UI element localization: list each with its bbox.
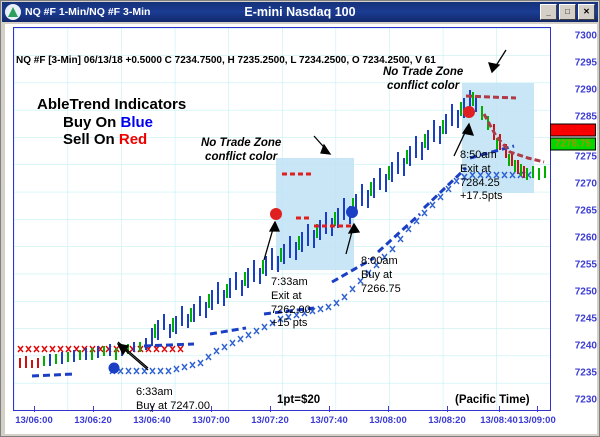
minimize-icon: _ (541, 5, 556, 19)
trade2-action: Exit at (271, 290, 311, 304)
trade-callout-4: 8:50am Exit at 7284.25 +17.5pts (460, 149, 503, 204)
legend-sell-word: Red (119, 131, 147, 148)
window-title-bar[interactable]: NQ #F 1-Min/NQ #F 3-Min E-mini Nasdaq 10… (2, 2, 598, 22)
price-tick: 7250 (575, 287, 597, 298)
window-controls: _ □ ✕ (540, 4, 595, 20)
price-tick: 7275 (575, 152, 597, 163)
trade3-price: 7266.75 (361, 283, 401, 297)
price-plot[interactable] (13, 27, 551, 411)
quote-bar: NQ #F [3-Min] 06/13/18 +0.5000 C 7234.75… (14, 53, 436, 68)
exit-signal-2-marker (463, 106, 475, 118)
no-trade-zone-1 (276, 158, 354, 270)
legend-sell-line: Sell On Red (37, 131, 186, 149)
price-tick: 7290 (575, 85, 597, 96)
price-tick: 7300 (575, 31, 597, 42)
maximize-icon: □ (560, 5, 575, 19)
price-tick: 7235 (575, 368, 597, 379)
price-tick: 7230 (575, 395, 597, 406)
time-tick: 13/06:00 (15, 415, 53, 426)
time-tick: 13/07:00 (192, 415, 230, 426)
trade-callout-1: 6:33am Buy at 7247.00 (136, 386, 210, 414)
trade-callout-2: 7:33am Exit at 7262.00 +15 pts (271, 276, 311, 331)
exit-signal-1-marker (270, 208, 282, 220)
price-axis[interactable]: 7300 7295 7290 7285 7282.08 7278.75 7275… (549, 24, 600, 414)
window-left-title: NQ #F 1-Min/NQ #F 3-Min (25, 6, 150, 18)
price-tick: 7255 (575, 260, 597, 271)
time-axis[interactable]: 13/06:00 13/06:20 13/06:40 13/07:00 13/0… (9, 406, 548, 434)
legend-buy-line: Buy On Blue (37, 114, 186, 132)
time-tick: 13/08:20 (428, 415, 466, 426)
price-tick: 7260 (575, 233, 597, 244)
close-icon: ✕ (579, 5, 594, 19)
legend-buy-word: Blue (121, 114, 154, 131)
price-tick: 7240 (575, 341, 597, 352)
trade4-pts: +17.5pts (460, 190, 503, 204)
ntz2-line2: conflict color (383, 80, 463, 94)
trade4-price: 7284.25 (460, 177, 503, 191)
ntz1-line1: No Trade Zone (201, 137, 281, 151)
time-tick: 13/07:20 (251, 415, 289, 426)
price-tick: 7285 (575, 112, 597, 123)
no-trade-zone-label-2: No Trade Zone conflict color (383, 66, 463, 94)
ntz1-line2: conflict color (201, 151, 281, 165)
bid-price-badge: 7278.75 (550, 138, 596, 151)
time-tick: 13/06:20 (74, 415, 112, 426)
indicator-legend: AbleTrend Indicators Buy On Blue Sell On… (37, 96, 186, 149)
ntz2-line1: No Trade Zone (383, 66, 463, 80)
no-trade-zone-label-1: No Trade Zone conflict color (201, 137, 281, 165)
timezone-note: (Pacific Time) (455, 394, 530, 406)
trade1-action: Buy at 7247.00 (136, 400, 210, 414)
trade3-time: 8:00am (361, 255, 401, 269)
maximize-button[interactable]: □ (559, 4, 576, 20)
trade2-time: 7:33am (271, 276, 311, 290)
legend-sell-prefix: Sell On (63, 131, 119, 148)
time-tick: 13/08:40 (480, 415, 518, 426)
chart-frame: NQ #F [3-Min] 06/13/18 +0.5000 C 7234.75… (5, 24, 597, 434)
legend-title: AbleTrend Indicators (37, 96, 186, 114)
chart-window: NQ #F 1-Min/NQ #F 3-Min E-mini Nasdaq 10… (0, 0, 600, 437)
trade2-price: 7262.00 (271, 304, 311, 318)
ask-price-badge: 7282.08 (550, 124, 596, 137)
trade-callout-3: 8:00am Buy at 7266.75 (361, 255, 401, 296)
time-tick: 13/07:40 (310, 415, 348, 426)
time-tick: 13/06:40 (133, 415, 171, 426)
plot-canvas (14, 28, 550, 410)
trade4-action: Exit at (460, 163, 503, 177)
price-tick: 7270 (575, 179, 597, 190)
point-value-note: 1pt=$20 (277, 394, 320, 406)
price-tick: 7295 (575, 58, 597, 69)
triangle-logo-icon (5, 4, 21, 20)
trade1-time: 6:33am (136, 386, 210, 400)
trade3-action: Buy at (361, 269, 401, 283)
buy-signal-1-marker (109, 363, 120, 374)
time-tick: 13/08:00 (369, 415, 407, 426)
legend-buy-prefix: Buy On (63, 114, 121, 131)
price-tick: 7265 (575, 206, 597, 217)
trade4-time: 8:50am (460, 149, 503, 163)
trade2-pts: +15 pts (271, 317, 311, 331)
minimize-button[interactable]: _ (540, 4, 557, 20)
price-tick: 7245 (575, 314, 597, 325)
buy-signal-2-marker (346, 206, 358, 218)
close-button[interactable]: ✕ (578, 4, 595, 20)
time-tick: 13/09:00 (518, 415, 556, 426)
